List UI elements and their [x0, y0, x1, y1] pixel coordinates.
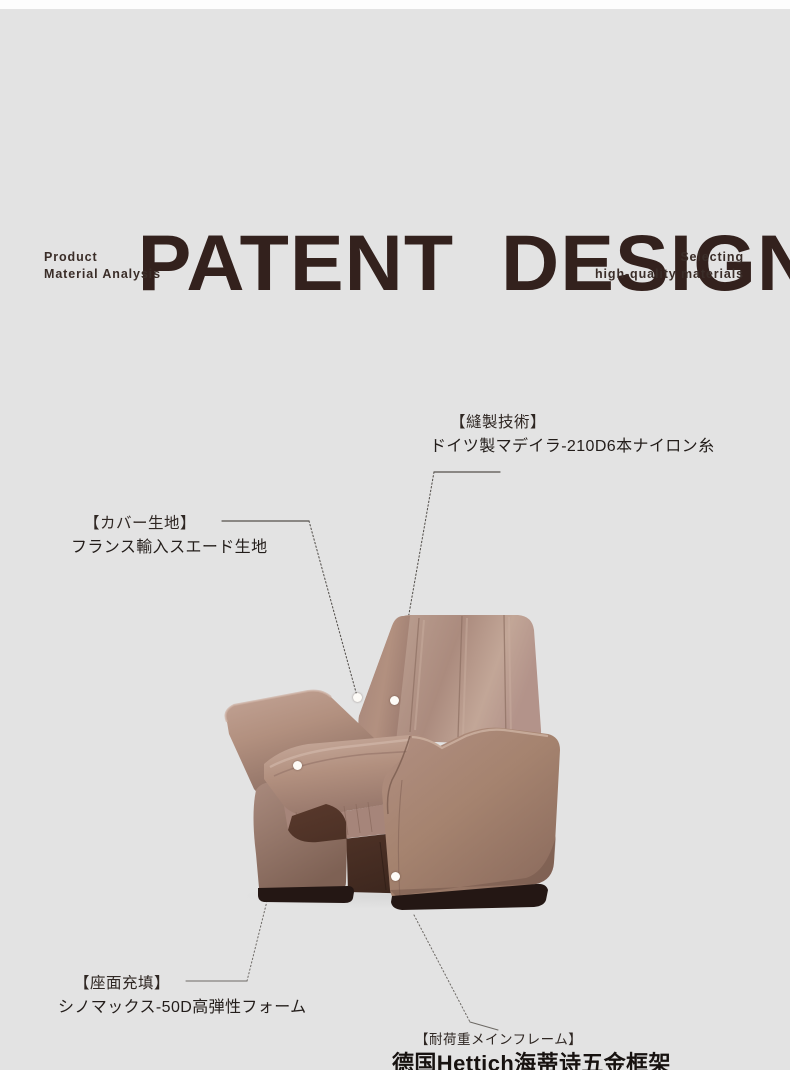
callout-sewing-title: 【縫製技術】	[450, 412, 714, 434]
subtitle-right: Selecting high-quality materials	[595, 249, 744, 283]
callout-foam-title: 【座面充填】	[74, 973, 307, 995]
chair-base-left	[258, 886, 354, 903]
leader-frame-line	[414, 915, 470, 1022]
callout-sewing: 【縫製技術】 ドイツ製マデイラ-210D6本ナイロン糸	[450, 412, 714, 460]
callout-sewing-body: ドイツ製マデイラ-210D6本ナイロン糸	[430, 434, 714, 460]
callout-cover-title: 【カバー生地】	[84, 513, 267, 535]
marker-cover[interactable]	[353, 693, 362, 702]
subtitle-left: Product Material Analysis	[44, 249, 161, 283]
marker-sewing[interactable]	[390, 696, 399, 705]
page-title-part-1: PATENT	[138, 218, 454, 307]
marker-foam[interactable]	[293, 761, 302, 770]
callout-foam: 【座面充填】 シノマックス-50D高弾性フォーム	[74, 973, 307, 1021]
callout-frame-title: 【耐荷重メインフレーム】	[415, 1030, 671, 1049]
callout-frame: 【耐荷重メインフレーム】 德国Hettich海蒂诗五金框架	[415, 1030, 671, 1070]
callout-cover: 【カバー生地】 フランス輸入スエード生地	[84, 513, 267, 561]
callout-cover-body: フランス輸入スエード生地	[71, 535, 267, 561]
callout-frame-body: 德国Hettich海蒂诗五金框架	[392, 1049, 671, 1070]
leader-frame-rule	[470, 1022, 498, 1030]
marker-frame[interactable]	[391, 872, 400, 881]
callout-foam-body: シノマックス-50D高弾性フォーム	[58, 995, 307, 1021]
top-white-strip	[0, 0, 790, 9]
product-image-armchair	[196, 604, 568, 916]
poster-page: PATENTDESIGN Product Material Analysis S…	[0, 0, 790, 1070]
